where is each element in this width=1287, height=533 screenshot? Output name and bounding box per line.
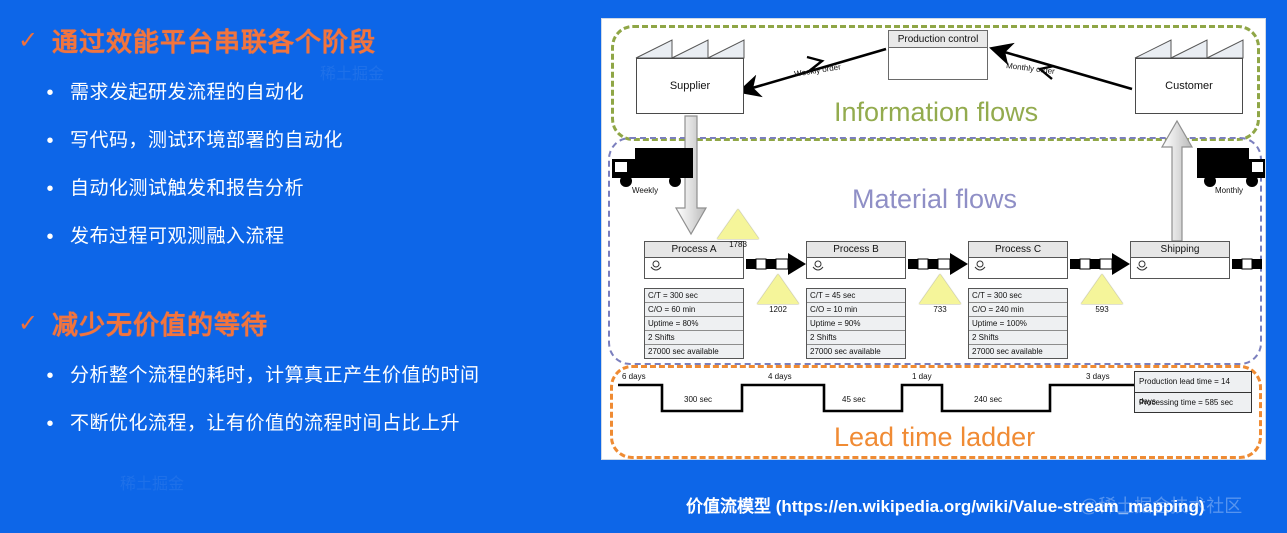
processing-time: Processing time = 585 sec [1135,393,1251,413]
push-arrow-shipping-out [1232,259,1262,269]
bullet-dot-icon: • [46,175,54,203]
customer-label: Customer [1135,58,1243,114]
triangle-icon [757,274,799,304]
data-box-process-a: C/T = 300 sec C/O = 60 min Uptime = 80% … [644,288,744,359]
truck-monthly-icon [1197,148,1265,187]
process-box-shipping: Shipping [1130,241,1230,279]
list-item: • 发布过程可观测融入流程 [46,223,600,251]
bullet-text: 需求发起研发流程的自动化 [70,79,304,107]
data-row: C/T = 300 sec [969,289,1067,303]
check-icon: ✓ [18,312,38,336]
triangle-icon [919,274,961,304]
process-c-label: Process C [969,242,1067,258]
section-2-title: 减少无价值的等待 [52,305,268,342]
watermark-text: @稀土掘金技术社区 [1080,492,1242,518]
triangle-icon [717,209,759,239]
operator-icon [1135,260,1149,272]
section-1-header: ✓ 通过效能平台串联各个阶段 [0,22,600,59]
section-2-bullets: • 分析整个流程的耗时，计算真正产生价值的时间 • 不断优化流程，让有价值的流程… [0,362,600,438]
section-1-bullets: • 需求发起研发流程的自动化 • 写代码，测试环境部署的自动化 • 自动化测试触… [0,79,600,251]
data-row: 27000 sec available [807,345,905,358]
data-box-process-c: C/T = 300 sec C/O = 240 min Uptime = 100… [968,288,1068,359]
list-item: • 需求发起研发流程的自动化 [46,79,600,107]
push-arrow-c-shipping [1070,253,1130,275]
bullet-text: 发布过程可观测融入流程 [70,223,285,251]
section-2: ✓ 减少无价值的等待 • 分析整个流程的耗时，计算真正产生价值的时间 • 不断优… [0,305,600,438]
section-1-title: 通过效能平台串联各个阶段 [52,22,376,59]
process-box-b: Process B [806,241,906,279]
bullet-text: 自动化测试触发和报告分析 [70,175,304,203]
customer-node: Customer [1135,36,1243,116]
check-icon: ✓ [18,29,38,53]
section-2-header: ✓ 减少无价值的等待 [0,305,600,342]
shipping-label: Shipping [1131,242,1229,258]
data-row: 27000 sec available [645,345,743,358]
bullet-dot-icon: • [46,362,54,390]
bullet-dot-icon: • [46,410,54,438]
section-1: ✓ 通过效能平台串联各个阶段 • 需求发起研发流程的自动化 • 写代码，测试环境… [0,22,600,251]
truck-weekly-icon [612,148,693,187]
ladder-wait-1: 4 days [768,372,792,381]
inventory-value: 593 [1081,305,1123,314]
operator-icon [649,260,663,272]
inventory-value: 733 [919,305,961,314]
truck-weekly-caption: Weekly [632,186,658,195]
bullet-text: 不断优化流程，让有价值的流程时间占比上升 [70,410,460,438]
ladder-wait-2: 1 day [912,372,932,381]
data-row: C/T = 45 sec [807,289,905,303]
bullet-dot-icon: • [46,79,54,107]
data-row: Uptime = 80% [645,317,743,331]
value-stream-map-image: Information flows Material flows Lead ti… [601,18,1266,460]
production-lead-time: Production lead time = 14 days [1135,372,1251,393]
ladder-proc-0: 300 sec [684,395,712,404]
ladder-wait-0: 6 days [622,372,646,381]
ladder-proc-2: 240 sec [974,395,1002,404]
list-item: • 写代码，测试环境部署的自动化 [46,127,600,155]
inventory-triangle-1: 1202 [757,274,799,314]
production-control-node: Production control [888,30,988,80]
push-arrow-a-b [746,253,806,275]
list-item: • 分析整个流程的耗时，计算真正产生价值的时间 [46,362,600,390]
data-row: 2 Shifts [969,331,1067,345]
data-row: 2 Shifts [807,331,905,345]
push-arrow-b-c [908,253,968,275]
shipping-to-customer-arrow [1162,121,1192,241]
ladder-summary-box: Production lead time = 14 days Processin… [1134,371,1252,413]
inventory-triangle-2: 733 [919,274,961,314]
list-item: • 自动化测试触发和报告分析 [46,175,600,203]
triangle-icon [1081,274,1123,304]
list-item: • 不断优化流程，让有价值的流程时间占比上升 [46,410,600,438]
data-row: Uptime = 100% [969,317,1067,331]
inventory-value: 1202 [757,305,799,314]
operator-icon [811,260,825,272]
bullet-content-panel: ✓ 通过效能平台串联各个阶段 • 需求发起研发流程的自动化 • 写代码，测试环境… [0,0,600,533]
data-row: 27000 sec available [969,345,1067,358]
inventory-triangle-0: 1783 [717,209,759,249]
supplier-node: Supplier [636,36,744,116]
process-box-c: Process C [968,241,1068,279]
data-row: C/O = 10 min [807,303,905,317]
data-row: C/O = 60 min [645,303,743,317]
operator-icon [973,260,987,272]
process-b-label: Process B [807,242,905,258]
data-box-process-b: C/T = 45 sec C/O = 10 min Uptime = 90% 2… [806,288,906,359]
bullet-text: 写代码，测试环境部署的自动化 [70,127,343,155]
bullet-text: 分析整个流程的耗时，计算真正产生价值的时间 [70,362,480,390]
data-row: Uptime = 90% [807,317,905,331]
ladder-wait-3: 3 days [1086,372,1110,381]
truck-monthly-caption: Monthly [1215,186,1243,195]
bullet-dot-icon: • [46,223,54,251]
bullet-dot-icon: • [46,127,54,155]
ladder-proc-1: 45 sec [842,395,866,404]
data-row: C/O = 240 min [969,303,1067,317]
supplier-label: Supplier [636,58,744,114]
inventory-value: 1783 [717,240,759,249]
inventory-triangle-3: 593 [1081,274,1123,314]
data-row: 2 Shifts [645,331,743,345]
data-row: C/T = 300 sec [645,289,743,303]
production-control-label: Production control [889,31,987,48]
